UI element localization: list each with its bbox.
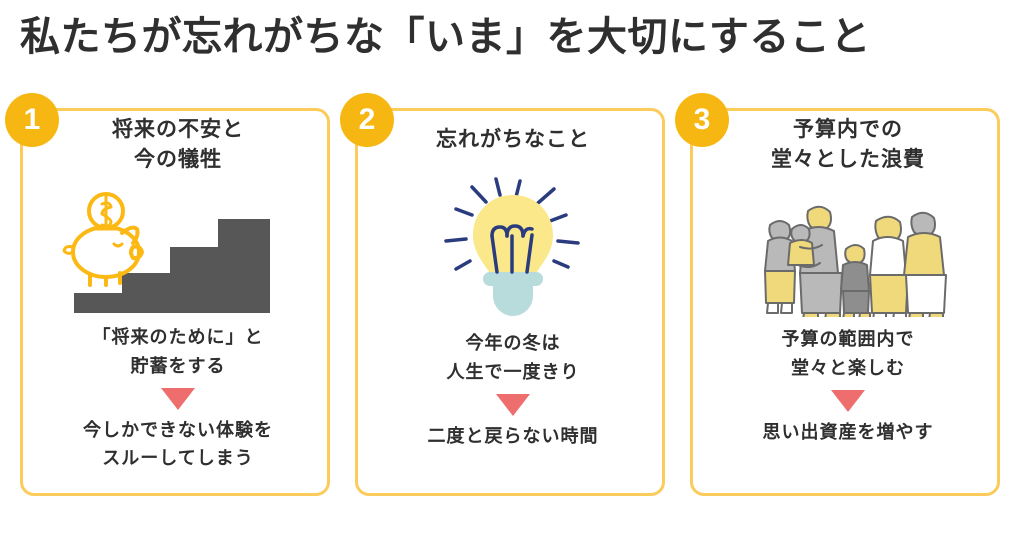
card-3-before-text: 予算の範囲内で 堂々と楽しむ (693, 325, 1003, 383)
card-3: 3 予算内での 堂々とした浪費 (690, 108, 1000, 496)
down-triangle-icon (161, 388, 195, 410)
card-1-heading: 将来の不安と 今の犠牲 (23, 115, 333, 176)
lightbulb-icon (428, 169, 598, 319)
card-row: 1 将来の不安と 今の犠牲 (0, 108, 1024, 500)
card-2-before-text: 今年の冬は 人生で一度きり (358, 329, 668, 387)
piggy-bank-stairs-icon (58, 189, 298, 313)
card-1: 1 将来の不安と 今の犠牲 (20, 108, 330, 496)
card-3-illustration (693, 191, 1003, 317)
card-2: 2 忘れがちなこと (355, 108, 665, 496)
card-1-flow: 「将来のために」と 貯蓄をする 今しかできない体験を スルーしてしまう (23, 323, 333, 473)
card-3-after-text: 思い出資産を増やす (693, 418, 1003, 447)
card-2-illustration (358, 169, 668, 319)
card-3-heading-line2: 堂々とした浪費 (693, 145, 1003, 175)
card-1-heading-line1: 将来の不安と (112, 118, 244, 141)
card-3-number-badge: 3 (675, 93, 729, 147)
down-triangle-icon (496, 394, 530, 416)
card-3-before-line2: 堂々と楽しむ (693, 354, 1003, 383)
card-2-heading-line1: 忘れがちなこと (436, 128, 590, 151)
card-1-before-text: 「将来のために」と 貯蓄をする (23, 323, 333, 381)
card-2-heading: 忘れがちなこと (358, 125, 668, 155)
card-3-heading-line1: 予算内での (793, 118, 903, 141)
card-2-flow: 今年の冬は 人生で一度きり 二度と戻らない時間 (358, 329, 668, 450)
card-3-after-line1: 思い出資産を増やす (763, 422, 934, 442)
card-3-before-line1: 予算の範囲内で (782, 329, 915, 349)
card-2-after-line1: 二度と戻らない時間 (428, 426, 599, 446)
card-1-illustration (23, 189, 333, 313)
card-2-before-line1: 今年の冬は (466, 333, 561, 353)
page-title: 私たちが忘れがちな「いま」を大切にすること (20, 14, 1004, 60)
card-1-heading-line2: 今の犠牲 (23, 145, 333, 175)
card-1-before-line2: 貯蓄をする (23, 352, 333, 381)
card-1-after-line2: スルーしてしまう (23, 444, 333, 473)
card-3-flow: 予算の範囲内で 堂々と楽しむ 思い出資産を増やす (693, 325, 1003, 446)
card-1-after-text: 今しかできない体験を スルーしてしまう (23, 416, 333, 474)
card-1-number-badge: 1 (5, 93, 59, 147)
down-triangle-icon (831, 390, 865, 412)
card-2-after-text: 二度と戻らない時間 (358, 422, 668, 451)
card-1-before-line1: 「将来のために」と (93, 327, 264, 347)
card-3-heading: 予算内での 堂々とした浪費 (693, 115, 1003, 176)
card-1-after-line1: 今しかできない体験を (83, 420, 273, 440)
card-2-number-badge: 2 (340, 93, 394, 147)
family-group-icon (748, 191, 948, 317)
card-2-before-line2: 人生で一度きり (358, 358, 668, 387)
